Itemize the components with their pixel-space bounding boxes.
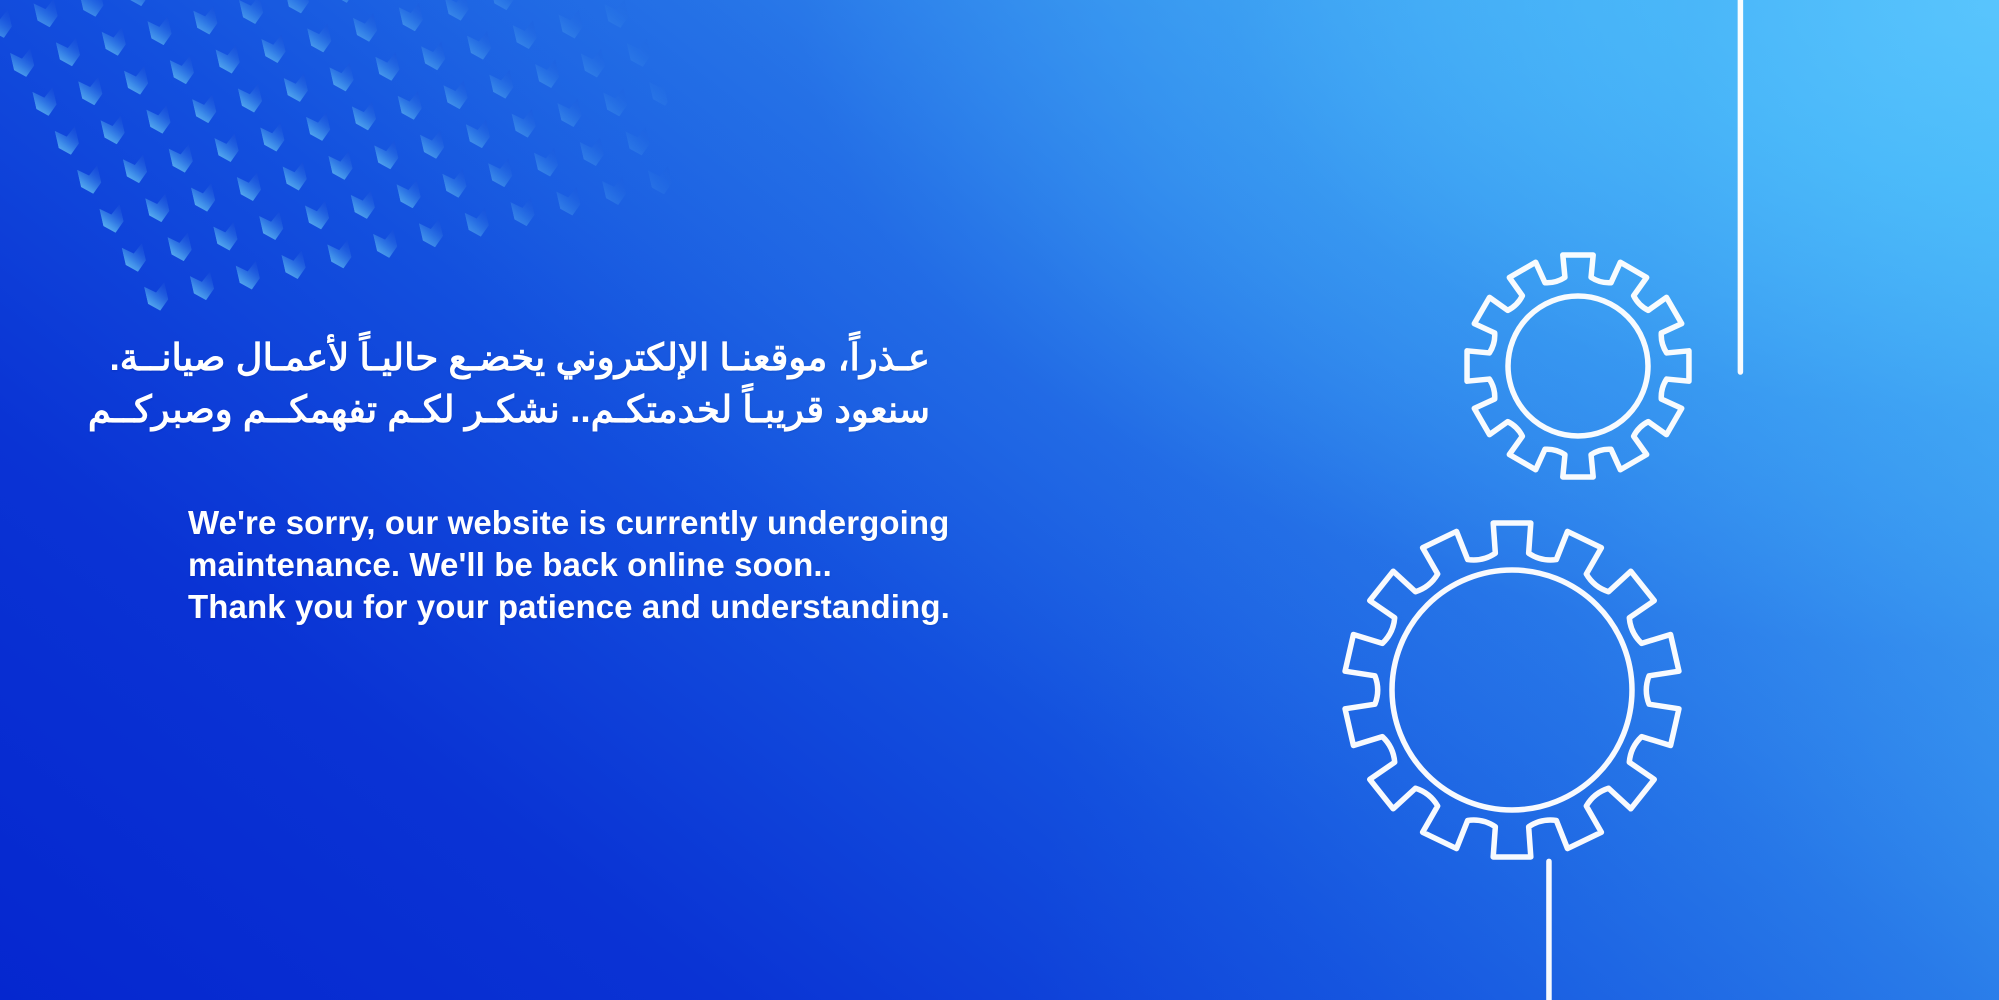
arabic-message: عـذراً، موقعنـا الإلكتروني يخضـع حاليـاً… bbox=[188, 332, 930, 436]
english-message-line-2: maintenance. We'll be back online soon.. bbox=[188, 544, 1188, 586]
english-message-line-1: We're sorry, our website is currently un… bbox=[188, 502, 1188, 544]
maintenance-page: عـذراً، موقعنـا الإلكتروني يخضـع حاليـاً… bbox=[0, 0, 1999, 1000]
arabic-message-line-2: سنعود قريبـاً لخدمتكـم.. نشكـر لكـم تفهم… bbox=[188, 384, 930, 436]
english-message-line-3: Thank you for your patience and understa… bbox=[188, 586, 1188, 628]
english-message: We're sorry, our website is currently un… bbox=[188, 502, 1188, 628]
maintenance-message-block: عـذراً، موقعنـا الإلكتروني يخضـع حاليـاً… bbox=[188, 332, 1188, 628]
arabic-message-line-1: عـذراً، موقعنـا الإلكتروني يخضـع حاليـاً… bbox=[188, 332, 930, 384]
